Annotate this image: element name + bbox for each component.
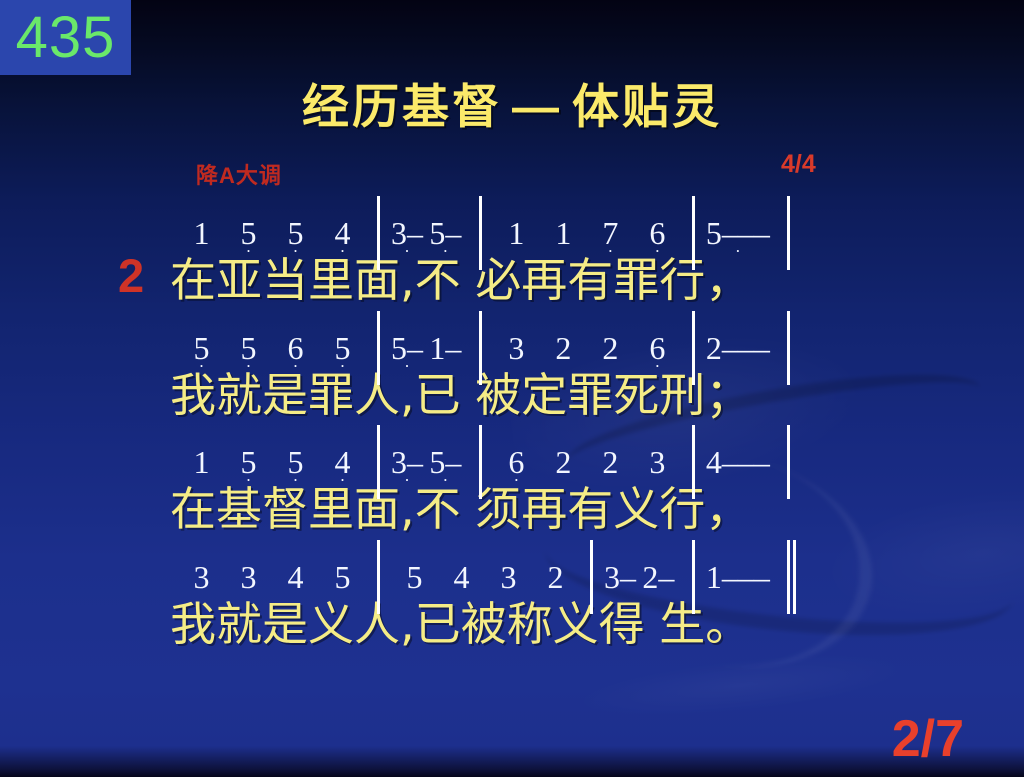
note: 5 — [319, 559, 366, 596]
barline — [787, 196, 790, 270]
barline — [377, 425, 380, 499]
note: 6. — [634, 215, 681, 252]
music-line: 15.5.4.3–. 5–. 117.6.5–––. 在亚当里面,不 必再有罪行… — [0, 196, 1024, 311]
music-body: 15.5.4.3–. 5–. 117.6.5–––. 在亚当里面,不 必再有罪行… — [0, 196, 1024, 655]
barline — [479, 311, 482, 385]
barline — [692, 196, 695, 270]
note: 2 — [532, 559, 579, 596]
key-signature: 降A大调 — [196, 158, 282, 190]
barline — [692, 425, 695, 499]
note: 5–. — [391, 330, 423, 367]
note: 3 — [634, 444, 681, 481]
octave-dot-low: . — [391, 245, 423, 249]
octave-dot-low: . — [634, 360, 681, 364]
note: 2– — [642, 559, 674, 596]
note: 1 — [540, 215, 587, 252]
octave-dot-low: . — [272, 360, 319, 364]
note: 2––– — [706, 330, 770, 367]
measure: 3–. 5–. — [391, 215, 468, 252]
barline — [787, 311, 790, 385]
note: 5 — [391, 559, 438, 596]
octave-dot-low: . — [319, 360, 366, 364]
octave-dot-low: . — [391, 474, 423, 478]
notation-row: 15.5.4.3–. 5–. 117.6.5–––. — [0, 196, 1024, 250]
music-line: 15.5.4.3–. 5–. 6.2234––– 在基督里面,不 须再有义行， — [0, 425, 1024, 540]
note: 5. — [319, 330, 366, 367]
note: 6. — [634, 330, 681, 367]
measure: 5432 — [391, 559, 579, 596]
note-sustain-dash: – — [445, 330, 461, 367]
measure: 15.5.4. — [178, 215, 366, 252]
hymn-slide: 435 经历基督—体贴灵 降A大调 4/4 2 15.5.4.3–. 5–. 1… — [0, 0, 1024, 777]
note: 5–. — [429, 215, 461, 252]
note: 6. — [272, 330, 319, 367]
note-sustain-dash: – — [658, 559, 674, 596]
note: 1– — [429, 330, 461, 367]
note: 1 — [178, 444, 225, 481]
note: 3 — [178, 559, 225, 596]
note: 3–. — [391, 444, 423, 481]
octave-dot-low: . — [429, 474, 461, 478]
notation-row: 5.5.6.5.5–. 1– 3226.2––– — [0, 311, 1024, 365]
note: 1 — [178, 215, 225, 252]
octave-dot-low: . — [319, 474, 366, 478]
note-sustain-dash: ––– — [722, 330, 770, 367]
measure: 3226. — [493, 330, 681, 367]
barline — [377, 311, 380, 385]
title-main: 经历基督 — [302, 80, 502, 133]
music-line: 5.5.6.5.5–. 1– 3226.2––– 我就是罪人,已 被定罪死刑； — [0, 311, 1024, 426]
note: 1––– — [706, 559, 770, 596]
lyrics-row: 在基督里面,不 须再有义行， — [0, 479, 1024, 540]
measure: 5–––. — [706, 215, 776, 252]
note: 4 — [438, 559, 485, 596]
measure: 6.223 — [493, 444, 681, 481]
hymn-number: 435 — [16, 9, 116, 67]
note: 4––– — [706, 444, 770, 481]
note: 5. — [272, 215, 319, 252]
note: 5. — [225, 444, 272, 481]
time-signature: 4/4 — [781, 150, 816, 179]
note: 2 — [540, 330, 587, 367]
octave-dot-low: . — [429, 245, 461, 249]
measure: 4––– — [706, 444, 776, 481]
barline — [479, 196, 482, 270]
note-sustain-dash: ––– — [722, 444, 770, 481]
octave-dot-low: . — [178, 360, 225, 364]
measure: 2––– — [706, 330, 776, 367]
note: 3–. — [391, 215, 423, 252]
notation-row: 15.5.4.3–. 5–. 6.2234––– — [0, 425, 1024, 479]
octave-dot-low: . — [706, 245, 770, 249]
octave-dot-low: . — [225, 474, 272, 478]
measure: 3–. 5–. — [391, 444, 468, 481]
note: 4. — [319, 215, 366, 252]
note: 4. — [319, 444, 366, 481]
note: 5–––. — [706, 215, 770, 252]
measure: 3345 — [178, 559, 366, 596]
note: 5. — [225, 215, 272, 252]
measure: 5.5.6.5. — [178, 330, 366, 367]
hymn-number-badge: 435 — [0, 0, 131, 75]
note: 3 — [225, 559, 272, 596]
note: 5. — [272, 444, 319, 481]
note: 1 — [493, 215, 540, 252]
music-line: 334554323– 2– 1––– 我就是义人,已被称义得 生。 — [0, 540, 1024, 655]
note: 3 — [493, 330, 540, 367]
note: 5. — [178, 330, 225, 367]
note: 5. — [225, 330, 272, 367]
title-dash: — — [502, 80, 572, 133]
barline — [590, 540, 593, 614]
note: 2 — [540, 444, 587, 481]
note: 7. — [587, 215, 634, 252]
barline — [692, 311, 695, 385]
measure: 5–. 1– — [391, 330, 468, 367]
notation-row: 334554323– 2– 1––– — [0, 540, 1024, 594]
octave-dot-low: . — [272, 245, 319, 249]
measure: 1––– — [706, 559, 776, 596]
barline — [479, 425, 482, 499]
note: 6. — [493, 444, 540, 481]
note: 2 — [587, 444, 634, 481]
page-title: 经历基督—体贴灵 — [0, 68, 1024, 137]
page-indicator: 2/7 — [892, 713, 964, 765]
measure: 117.6. — [493, 215, 681, 252]
note: 4 — [272, 559, 319, 596]
measure: 3– 2– — [604, 559, 681, 596]
note: 3 — [485, 559, 532, 596]
octave-dot-low: . — [272, 474, 319, 478]
note-sustain-dash: ––– — [722, 559, 770, 596]
octave-dot-low: . — [319, 245, 366, 249]
final-double-barline — [787, 540, 796, 614]
barline — [692, 540, 695, 614]
lyrics-row: 我就是义人,已被称义得 生。 — [0, 594, 1024, 655]
octave-dot-low: . — [634, 245, 681, 249]
barline — [377, 540, 380, 614]
barline — [787, 425, 790, 499]
note: 2 — [587, 330, 634, 367]
lyrics-row: 在亚当里面,不 必再有罪行， — [0, 250, 1024, 311]
octave-dot-low: . — [225, 360, 272, 364]
note-sustain-dash: – — [620, 559, 636, 596]
measure: 15.5.4. — [178, 444, 366, 481]
octave-dot-low: . — [587, 245, 634, 249]
octave-dot-low: . — [391, 360, 423, 364]
octave-dot-low: . — [225, 245, 272, 249]
title-sub: 体贴灵 — [572, 80, 722, 133]
barline — [377, 196, 380, 270]
octave-dot-low: . — [493, 474, 540, 478]
note: 3– — [604, 559, 636, 596]
note: 5–. — [429, 444, 461, 481]
lyrics-row: 我就是罪人,已 被定罪死刑； — [0, 365, 1024, 426]
